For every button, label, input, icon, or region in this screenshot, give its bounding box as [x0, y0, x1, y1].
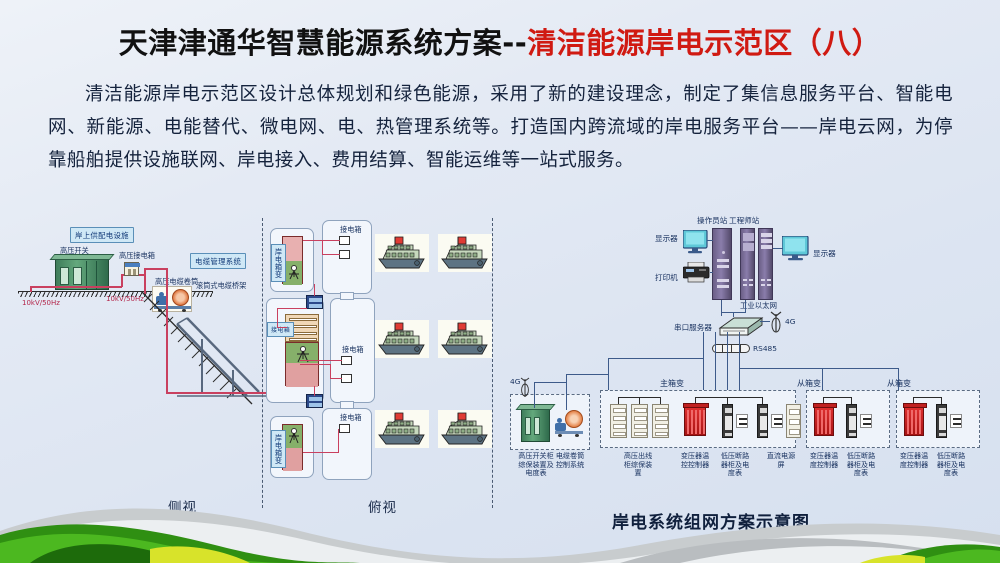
slave2-bus	[913, 397, 942, 398]
trunk-left	[608, 358, 704, 359]
label-slave-box-transformer-2: 从箱变	[887, 378, 911, 389]
wire-bot-2	[338, 429, 339, 453]
hv-out-cabinet	[610, 404, 627, 438]
hv-cable-dock-run	[166, 392, 278, 394]
left-grp-feed-b	[566, 382, 567, 410]
device-label: 直流电源屏	[766, 452, 796, 469]
label-4g-left: 4G	[510, 378, 520, 387]
link-monitor-left	[707, 240, 713, 241]
wire-mid-b	[300, 364, 330, 365]
label-engineer-station: 工程师站	[729, 217, 759, 226]
monitor-left-icon	[683, 230, 709, 258]
label-hv-connect-box: 高压接电箱	[119, 252, 155, 260]
wire-mid-left	[277, 308, 278, 328]
label-connect-box-bottom: 接电箱	[340, 414, 362, 422]
wire-mid-d	[330, 378, 342, 379]
wire-mid-up	[314, 284, 315, 296]
ship-icon	[438, 320, 492, 358]
hv-out-cabinet	[652, 404, 669, 438]
left-grp-feed-e	[566, 374, 608, 375]
engineer-station-tower-b	[758, 228, 773, 300]
operator-station-tower	[712, 228, 732, 300]
label-printer: 打印机	[655, 274, 678, 283]
left-grp-feed-a	[534, 382, 535, 408]
energy-meter-unit	[736, 414, 748, 428]
device-label: 低压断路器柜及电度表	[719, 452, 751, 478]
wire-mid-down	[314, 386, 315, 396]
label-roller-cable-bridge: 滚筒式电缆桥架	[196, 282, 246, 290]
tower-to-server-4	[733, 312, 734, 317]
pier-connector-2	[340, 401, 354, 409]
device-label: 变压器温控控制器	[678, 452, 712, 469]
hv-switchgear-cabinet	[521, 408, 550, 442]
tower-to-server-2	[745, 300, 746, 312]
hv-out-cabinet	[631, 404, 648, 438]
ship-icon	[438, 234, 492, 272]
label-voltage-right: 10kV/50Hz	[106, 295, 144, 303]
connect-box-mid-2	[341, 374, 352, 383]
ship-icon	[375, 320, 429, 358]
footer-decoration	[0, 501, 1000, 563]
main-bus-2b	[727, 397, 728, 404]
trunk-right	[739, 368, 899, 369]
trunk-right-down-a	[822, 368, 823, 390]
dc-power-panel	[786, 404, 801, 438]
left-grp-feed-c	[534, 382, 567, 383]
drop-line-4	[739, 332, 740, 392]
wire-mid-left3	[277, 327, 287, 328]
drop-line-2	[715, 332, 716, 392]
hv-connect-box-unit	[124, 262, 139, 276]
title-accent-text: 清洁能源岸电示范区（八）	[527, 26, 881, 60]
slave1-bus-b	[851, 397, 852, 404]
drop-line-1	[703, 332, 704, 392]
slave2-bus-b	[941, 397, 942, 404]
device-label: 低压断路器柜及电度表	[935, 452, 967, 478]
antenna-4g-icon	[768, 310, 784, 340]
label-slave-box-transformer-1: 从箱变	[797, 378, 821, 389]
device-label: 高压出线柜综保装置	[621, 452, 655, 478]
wire-mid-left2	[277, 308, 307, 309]
ship-icon	[375, 234, 429, 272]
label-connect-box-mid-left: 接电箱	[267, 322, 294, 337]
label-cable-mgmt-system: 电缆管理系统	[190, 253, 246, 269]
rs485-bus	[712, 344, 750, 353]
label-side-vert-top: 岸电箱变	[271, 244, 286, 282]
wire-mid-c	[330, 364, 331, 378]
wire-top-2	[322, 240, 323, 255]
connect-box-mid-1	[341, 356, 352, 365]
cable-reel-control-unit	[555, 410, 584, 442]
slave1-bus-a	[823, 397, 824, 403]
main-bus-2c	[762, 397, 763, 404]
hv-cable-seg3	[121, 274, 123, 287]
label-monitor-right: 显示器	[813, 250, 836, 259]
label-shore-facility: 岸上供配电设施	[70, 227, 134, 243]
body-paragraph: 清洁能源岸电示范区设计总体规划和绿色能源，采用了新的建设理念，制定了集信息服务平…	[48, 78, 953, 177]
main-bus-1c	[660, 397, 661, 404]
main-bus-2a	[695, 397, 696, 403]
monitor-right-icon	[782, 236, 810, 266]
tower-to-server-1	[721, 300, 722, 316]
slide-root: 天津津通华智慧能源系统方案--清洁能源岸电示范区（八） 清洁能源岸电示范区设计总…	[0, 0, 1000, 563]
hv-cable-seg2	[30, 286, 122, 288]
device-label: 低压断路器柜及电度表	[845, 452, 877, 478]
connect-box-bot-1	[339, 424, 350, 433]
drop-line-3	[727, 332, 728, 392]
device-label: 电缆卷筒控制系统	[554, 452, 586, 469]
label-serial-server: 串口服务器	[674, 324, 712, 333]
left-grp-feed-d	[566, 374, 567, 383]
lv-breaker-unit	[722, 404, 733, 438]
divider-right	[492, 218, 493, 508]
connect-box-top-1	[339, 236, 350, 245]
transformer-unit	[814, 406, 834, 436]
hv-cable-seg6	[144, 268, 166, 270]
label-operator-station: 操作员站	[697, 217, 727, 226]
main-bus-1a	[618, 397, 619, 404]
link-4g-server	[760, 321, 770, 322]
energy-meter-unit	[860, 414, 872, 428]
pier-connector-1	[340, 292, 354, 300]
wire-bot-1	[303, 452, 339, 453]
slave1-bus	[823, 397, 852, 398]
trunk-left-down	[608, 358, 609, 392]
lv-breaker-unit	[757, 404, 768, 438]
energy-meter-unit	[771, 414, 783, 428]
main-bus-1b	[639, 397, 640, 404]
device-label: 变压器温度控制器	[808, 452, 840, 469]
wire-top-3	[322, 254, 340, 255]
ship-icon	[375, 410, 429, 448]
diagram-canvas: 岸上供配电设施 高压开关 10kV/50Hz 高压接电箱 10kV/50Hz	[0, 198, 1000, 518]
page-title: 天津津通华智慧能源系统方案--清洁能源岸电示范区（八）	[0, 20, 1000, 62]
connect-box-top-2	[339, 250, 350, 259]
engineer-station-tower-a	[740, 228, 755, 300]
label-monitor-left: 显示器	[655, 235, 678, 244]
printer-icon	[683, 262, 711, 288]
title-main-text: 天津津通华智慧能源系统方案--	[119, 26, 528, 60]
label-rs485: RS485	[753, 345, 777, 354]
junction-box-lower	[306, 394, 323, 408]
hv-cable-to-dock	[166, 268, 168, 393]
device-label: 高压开关柜综保装置及电度表	[518, 452, 554, 478]
transformer-unit	[684, 406, 706, 436]
device-label: 变压器温度控制器	[898, 452, 930, 469]
slave2-bus-a	[913, 397, 914, 403]
ship-icon	[438, 410, 492, 448]
lv-breaker-unit	[846, 404, 857, 438]
main-bus-2	[695, 397, 763, 398]
lv-breaker-unit	[936, 404, 947, 438]
label-side-vert-bottom: 岸电箱变	[271, 430, 286, 468]
label-main-box-transformer: 主箱变	[660, 378, 684, 389]
junction-box-upper	[306, 295, 323, 309]
label-connect-box-top: 接电箱	[340, 226, 362, 234]
energy-meter-unit	[950, 414, 962, 428]
label-voltage-left: 10kV/50Hz	[22, 299, 60, 307]
transformer-unit	[904, 406, 924, 436]
label-4g-top: 4G	[785, 318, 795, 327]
wire-mid-a	[300, 360, 342, 361]
link-monitor-right	[773, 248, 783, 249]
label-connect-box-mid: 接电箱	[342, 346, 364, 354]
link-printer	[710, 272, 713, 273]
